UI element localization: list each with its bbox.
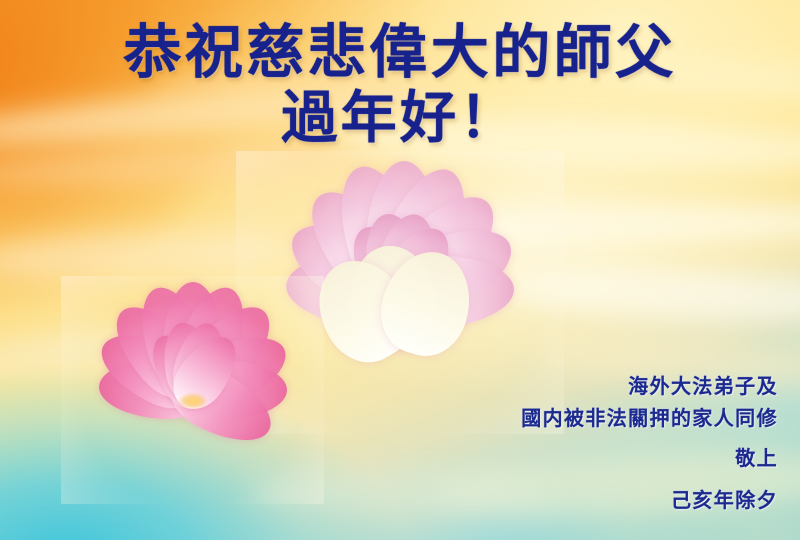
lotus-center bbox=[180, 394, 206, 408]
lotus-flower-small bbox=[75, 290, 310, 490]
greeting-card: 恭祝慈悲偉大的師父 過年好！ 海外大法弟子及 國内被非法關押的家人同修 敬上 己… bbox=[0, 0, 800, 540]
